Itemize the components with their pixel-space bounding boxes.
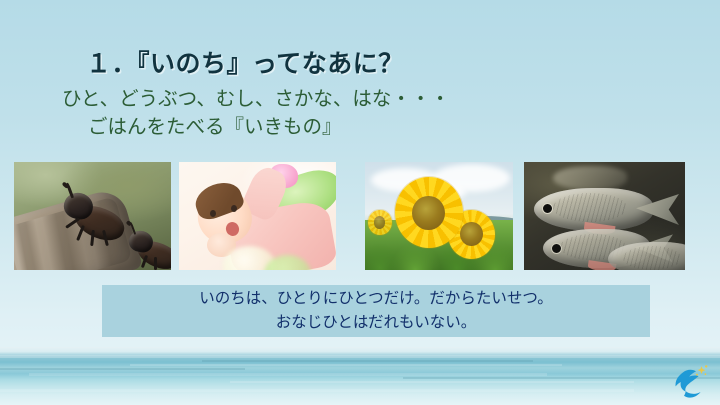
sunflower-disk xyxy=(374,216,385,228)
sunflower-small xyxy=(368,210,392,236)
subtitle-line-1: ひと、どうぶつ、むし、さかな、はな・・・ xyxy=(62,88,450,110)
baby-eye xyxy=(210,210,216,217)
beetle-large xyxy=(61,186,130,249)
fish-scales xyxy=(623,246,681,270)
sunflower-photo xyxy=(365,162,513,270)
beetle-leg xyxy=(76,225,85,241)
caption-box: いのちは、ひとりにひとつだけ。だからたいせつ。 おなじひとはだれもいない。 xyxy=(102,285,650,337)
sparkle-icon xyxy=(696,365,707,375)
sunflower-disk xyxy=(460,222,483,246)
subtitle-line-2: ごはんをたべる『いきもの』 xyxy=(62,114,450,142)
bird-logo xyxy=(670,363,710,401)
beetles-photo xyxy=(14,162,171,270)
beetle-horn xyxy=(130,222,137,235)
bird-icon xyxy=(670,363,710,401)
beetle-small xyxy=(127,225,171,270)
fish-scene xyxy=(524,162,685,270)
caption-line-2: おなじひとはだれもいない。 xyxy=(276,311,476,335)
slide-subtitle: ひと、どうぶつ、むし、さかな、はな・・・ ごはんをたべる『いきもの』 xyxy=(62,86,450,141)
sunflower-scene xyxy=(365,162,513,270)
baby-photo xyxy=(179,162,336,270)
beetles-scene xyxy=(14,162,171,270)
beetle-horn xyxy=(65,182,73,198)
fish-main xyxy=(534,188,653,231)
fish-eye xyxy=(551,243,562,254)
sunflower-main xyxy=(395,177,463,248)
water-streak xyxy=(130,364,562,366)
photo-strip xyxy=(0,162,720,272)
background-fish xyxy=(553,166,627,190)
water-streak xyxy=(202,360,533,362)
beetle-leg xyxy=(91,229,96,246)
water-streak xyxy=(0,368,245,370)
slide-title: １．『いのち』ってなあに？ xyxy=(86,44,404,80)
presentation-slide: １．『いのち』ってなあに？ ひと、どうぶつ、むし、さかな、はな・・・ ごはんをた… xyxy=(0,0,720,405)
water-streak xyxy=(0,389,634,392)
fish-third xyxy=(608,242,685,270)
baby-eye xyxy=(231,205,237,212)
water-streak xyxy=(29,373,547,376)
water-band xyxy=(0,347,720,405)
baby-scene xyxy=(179,162,336,270)
beetle-leg xyxy=(154,257,157,270)
water-streak xyxy=(230,381,633,383)
fish-photo xyxy=(524,162,685,270)
sunflower-disk xyxy=(412,196,445,230)
water-streak xyxy=(0,355,720,358)
fish-scales xyxy=(553,193,627,222)
caption-line-1: いのちは、ひとりにひとつだけ。だからたいせつ。 xyxy=(199,287,553,311)
